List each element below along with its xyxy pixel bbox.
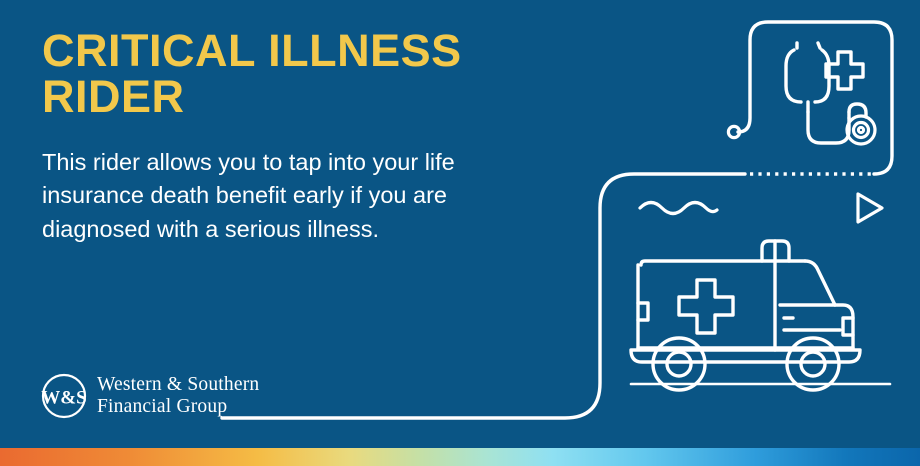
- stethoscope-chestpiece-icon: [847, 116, 875, 144]
- logo-wordmark: Western & Southern Financial Group: [97, 374, 259, 418]
- ambulance-cross-icon: [679, 280, 733, 333]
- rounded-frame: [738, 22, 892, 174]
- ws-monogram-icon: W&S: [40, 372, 88, 420]
- bottom-gradient-bar: [0, 448, 920, 466]
- squiggle-icon: [640, 203, 717, 214]
- medical-cross-icon: [826, 52, 863, 89]
- play-triangle-icon[interactable]: [858, 194, 882, 222]
- description-text: This rider allows you to tap into your l…: [42, 146, 522, 246]
- brand-logo[interactable]: W&S Western & Southern Financial Group: [40, 372, 259, 420]
- page-title: CRITICAL ILLNESS RIDER: [42, 28, 562, 120]
- ws-monogram-text: W&S: [41, 388, 86, 409]
- ambulance-wheels-icon: [653, 338, 839, 390]
- critical-illness-rider-banner: CRITICAL ILLNESS RIDER This rider allows…: [0, 0, 920, 466]
